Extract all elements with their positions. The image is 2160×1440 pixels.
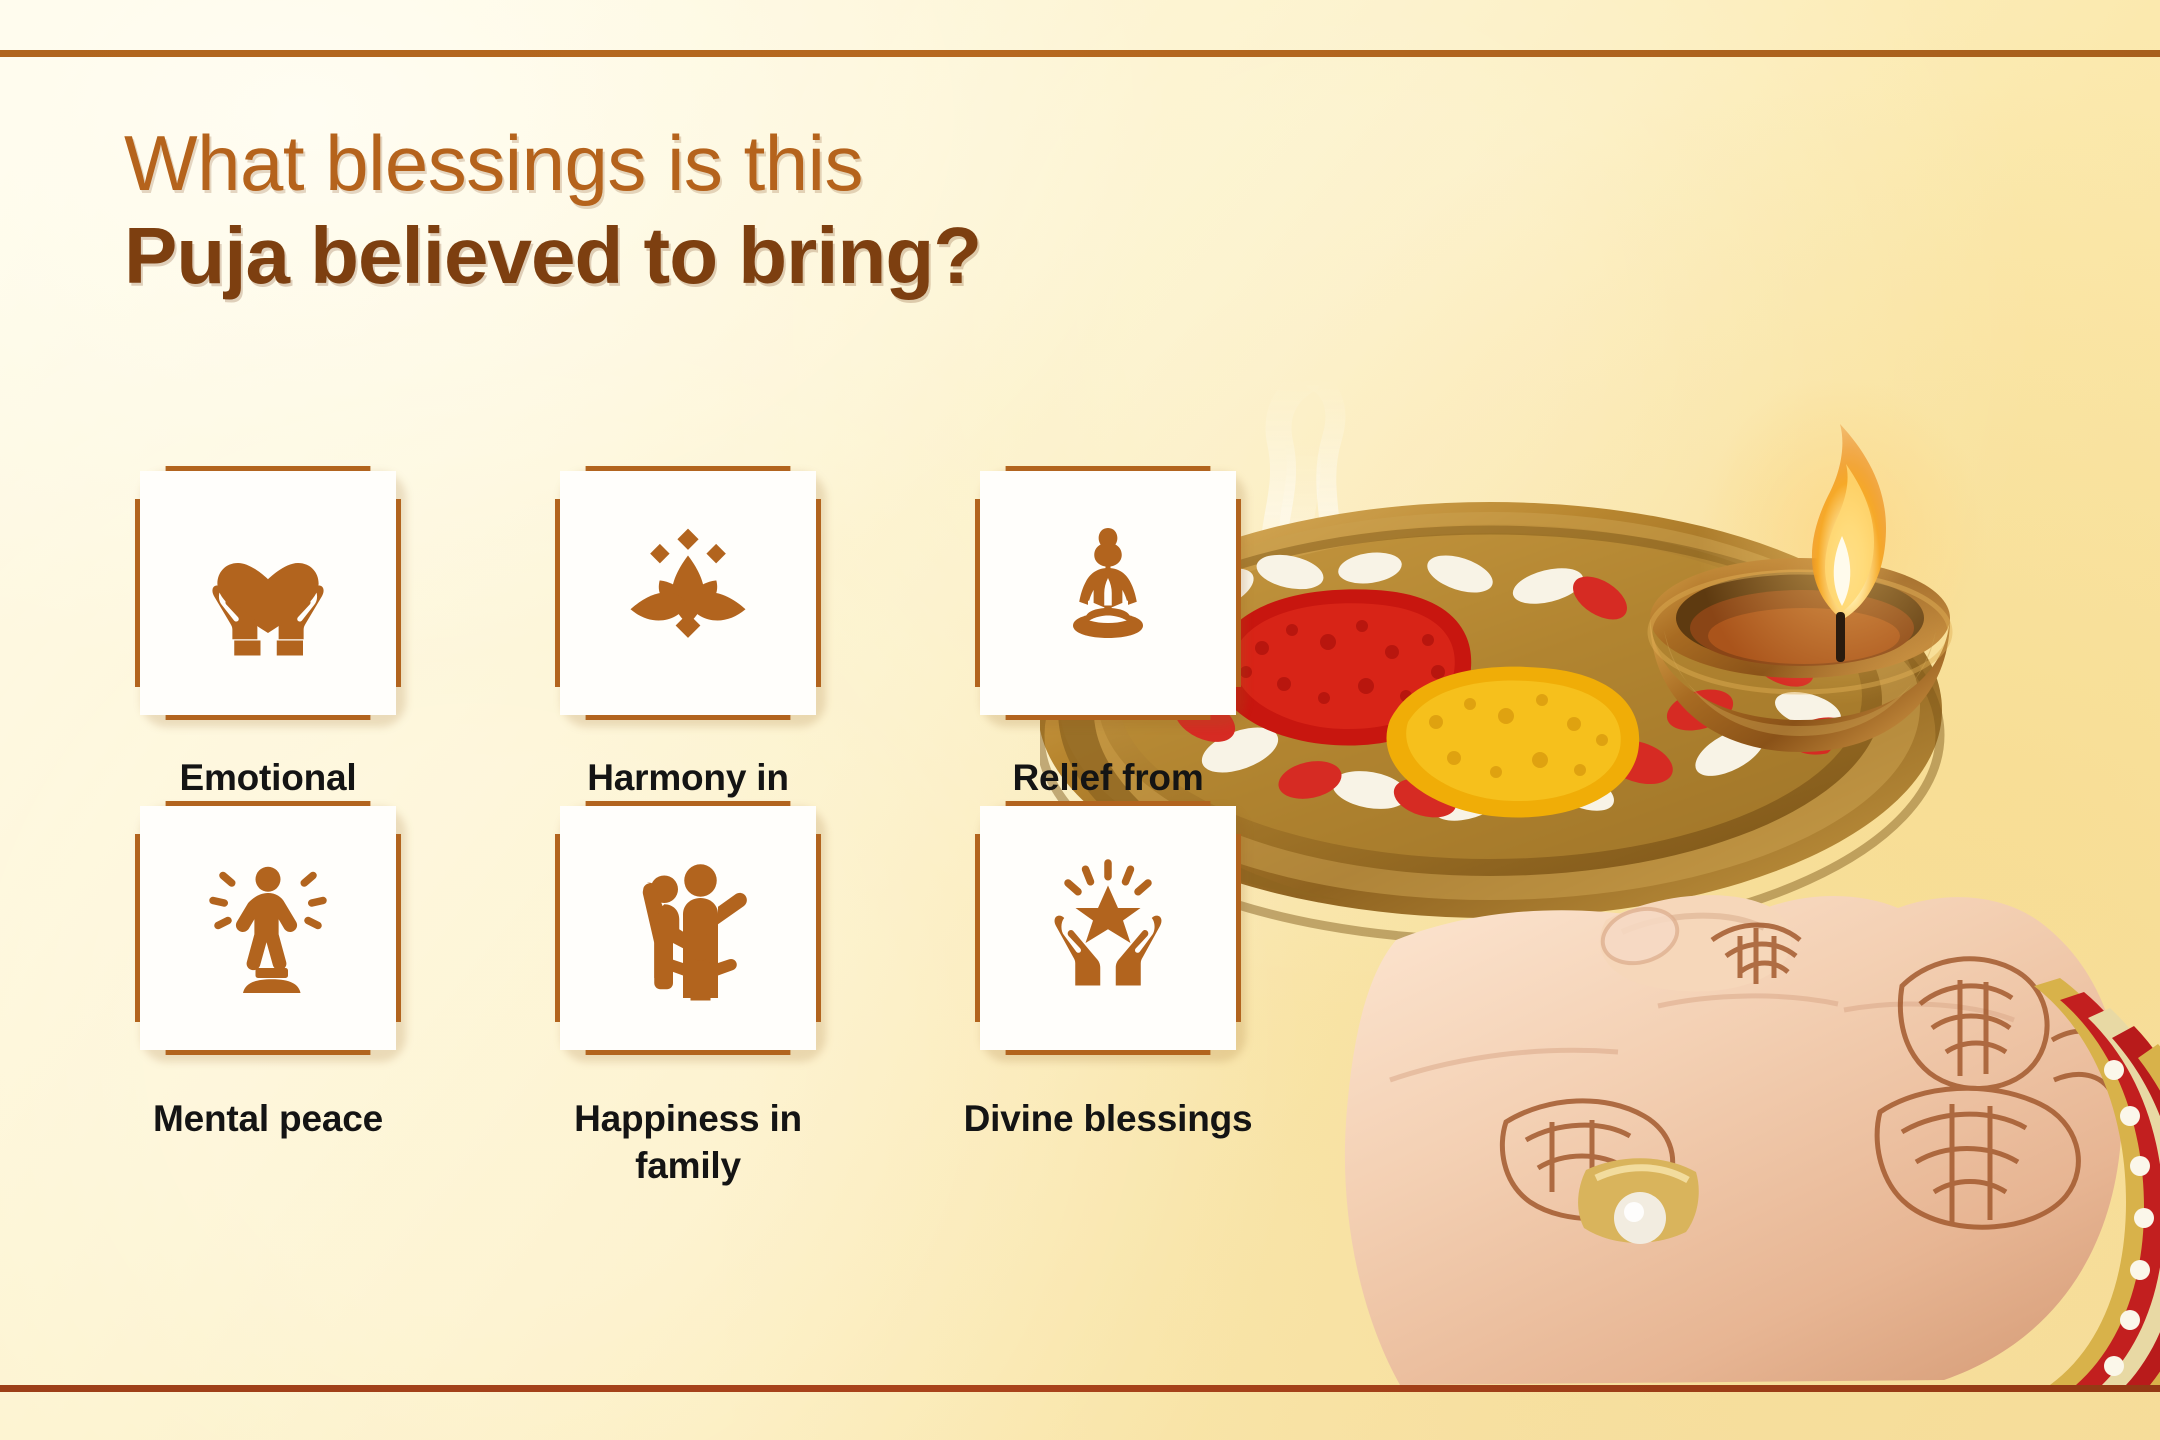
poster-canvas: What blessings is this Puja believed to …	[0, 0, 2160, 1440]
badge-frame	[135, 466, 401, 720]
benefit-label: Mental peace	[153, 1095, 383, 1142]
meditating-person-icon	[1033, 518, 1183, 668]
benefit-item-happiness-family[interactable]: Happiness in family	[538, 801, 838, 1136]
family-group-icon	[613, 853, 763, 1003]
henna-hand	[1345, 895, 2122, 1385]
lotus-flower-icon	[613, 518, 763, 668]
bottom-divider-rule	[0, 1385, 2160, 1392]
hands-holding-star-icon	[1033, 853, 1183, 1003]
benefit-item-divine-blessings[interactable]: Divine blessings	[958, 801, 1258, 1136]
badge-frame	[555, 466, 821, 720]
badge-frame	[555, 801, 821, 1055]
badge-frame	[975, 801, 1241, 1055]
benefit-item-relief-anxiety[interactable]: Relief from anxiety	[958, 466, 1258, 801]
badge-frame	[975, 466, 1241, 720]
benefit-label: Happiness in family	[574, 1095, 802, 1190]
diya-flame	[1697, 380, 1987, 705]
hands-holding-heart-icon	[193, 518, 343, 668]
confident-person-icon	[193, 853, 343, 1003]
page-title-line1: What blessings is this	[124, 122, 981, 205]
badge-frame	[135, 801, 401, 1055]
page-title-line2: Puja believed to bring?	[124, 211, 981, 301]
page-title: What blessings is this Puja believed to …	[124, 122, 981, 300]
benefit-item-emotional-balance[interactable]: Emotional balance	[118, 466, 418, 801]
benefits-grid: Emotional balance	[118, 466, 1258, 1136]
gold-ring	[1578, 1158, 1699, 1244]
benefit-item-mental-peace[interactable]: Mental peace	[118, 801, 418, 1136]
benefit-item-harmony-relationships[interactable]: Harmony in relationships	[538, 466, 838, 801]
top-divider-rule	[0, 50, 2160, 57]
benefit-label: Divine blessings	[964, 1095, 1253, 1142]
